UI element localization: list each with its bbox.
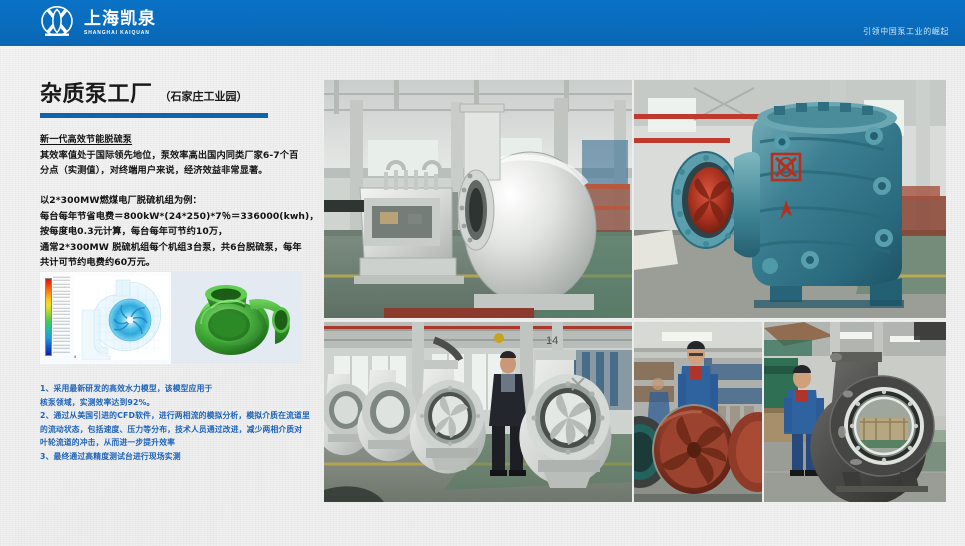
page-title-sub: （石家庄工业园）: [160, 88, 248, 107]
note2-line2: 的流动状态，包括速度、压力等分布，技术人员通过改进，减少两相介质对: [40, 423, 332, 437]
section2-cost-example: 以2*300MW燃煤电厂脱硫机组为例： 每台每年节省电费＝800kW*(24*2…: [40, 193, 322, 271]
photo-gray-pump-assembly[interactable]: [324, 80, 632, 318]
section1-body-line1: 其效率值处于国际领先地位，泵效率高出国内同类厂家6-7个百: [40, 150, 298, 161]
photo-gallery: 14: [324, 80, 946, 502]
page-header: 上海凯泉 SHANGHAI KAIQUAN 引领中国泵工业的崛起: [0, 0, 965, 46]
3d-volute-cad-model-figure: [171, 272, 302, 364]
note1-line2: 核泵领域，实测效率达到92%。: [40, 396, 332, 410]
section2-line4: 通常2*300MW 脱硫机组每个机组3台泵，共6台脱硫泵，每年: [40, 240, 322, 256]
svg-text:14: 14: [546, 335, 558, 347]
company-logo[interactable]: 上海凯泉 SHANGHAI KAIQUAN: [38, 6, 156, 40]
page-title: 杂质泵工厂 （石家庄工业园）: [40, 82, 322, 107]
cfd-colorbar-ticks: [53, 276, 75, 358]
photo-blue-slurry-pump[interactable]: [634, 80, 946, 318]
note1-line1: 1、采用最新研发的高效水力模型，该模型应用于: [40, 382, 332, 396]
page-title-main: 杂质泵工厂: [40, 82, 153, 107]
kaiquan-qx-monogram-icon: [38, 6, 78, 40]
left-content-column: 杂质泵工厂 （石家庄工业园） 新一代高效节能脱硫泵 其效率值处于国际领先地位，泵…: [40, 82, 322, 271]
cfd-volute-contour-plot: [74, 276, 168, 360]
cfd-colorbar: [45, 278, 52, 356]
section2-line2: 每台每年节省电费＝800kW*(24*250)*7％＝336000(kwh)，: [40, 209, 322, 225]
note2-line3: 叶轮流道的冲击，从而进一步提升效率: [40, 436, 332, 450]
section2-line5: 共计可节约电费约60万元。: [40, 255, 322, 271]
section1-body-line2: 分点（实测值），对终端用户来说，经济效益非常显著。: [40, 165, 268, 176]
photo-red-impellers[interactable]: [634, 322, 762, 502]
section2-line3: 按每度电0.3元计算，每台每年可节约10万，: [40, 224, 322, 240]
title-underline-rule: [40, 113, 268, 118]
note3-line1: 3、最终通过高精度测试台进行现场实测: [40, 450, 332, 464]
logo-text-en: SHANGHAI KAIQUAN: [84, 30, 156, 37]
slide-canvas: 上海凯泉 SHANGHAI KAIQUAN 引领中国泵工业的崛起 杂质泵工厂 （…: [0, 0, 965, 546]
section2-line1: 以2*300MW燃煤电厂脱硫机组为例：: [40, 193, 322, 209]
technical-notes: 1、采用最新研发的高效水力模型，该模型应用于 核泵领域，实测效率达到92%。 2…: [40, 382, 332, 464]
cfd-velocity-contour-volute-figure: x: [40, 272, 171, 364]
header-tagline: 引领中国泵工业的崛起: [863, 26, 949, 37]
logo-text-cn: 上海凯泉: [84, 10, 156, 29]
section1-heading: 新一代高效节能脱硫泵: [40, 132, 322, 145]
photo-raw-casting-casing[interactable]: [764, 322, 946, 502]
cfd-axis-label: x: [74, 354, 76, 359]
note2-line1: 2、通过从美国引进的CFD软件，进行两相流的模拟分析，模拟介质在流道里: [40, 409, 332, 423]
section1-body: 其效率值处于国际领先地位，泵效率高出国内同类厂家6-7个百 分点（实测值），对终…: [40, 148, 322, 178]
photo-pump-casing-row[interactable]: 14: [324, 322, 632, 502]
figure-pair: x: [40, 272, 302, 364]
